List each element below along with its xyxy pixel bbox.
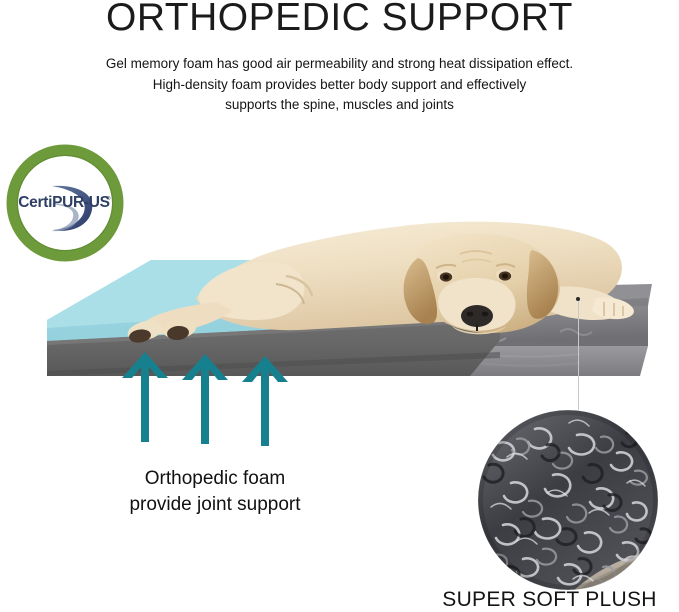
description-block: Gel memory foam has good air permeabilit… bbox=[40, 54, 640, 116]
foam-caption-line-2: provide joint support bbox=[60, 492, 370, 518]
page-title: ORTHOPEDIC SUPPORT bbox=[0, 0, 679, 39]
description-line-3: supports the spine, muscles and joints bbox=[40, 95, 640, 116]
support-arrows bbox=[120, 352, 290, 448]
up-arrow-icon bbox=[242, 356, 288, 446]
plush-texture-detail bbox=[477, 409, 659, 591]
description-line-2: High-density foam provides better body s… bbox=[40, 75, 640, 96]
leader-line bbox=[577, 300, 580, 412]
plush-caption: SUPER SOFT PLUSH bbox=[420, 588, 679, 612]
up-arrow-icon bbox=[122, 352, 168, 442]
up-arrow-icon bbox=[182, 354, 228, 444]
description-line-1: Gel memory foam has good air permeabilit… bbox=[40, 54, 640, 75]
leader-line-dot bbox=[576, 297, 580, 301]
orthopedic-foam-caption: Orthopedic foam provide joint support bbox=[60, 466, 370, 518]
foam-caption-line-1: Orthopedic foam bbox=[60, 466, 370, 492]
infographic-canvas: ORTHOPEDIC SUPPORT Gel memory foam has g… bbox=[0, 0, 679, 612]
